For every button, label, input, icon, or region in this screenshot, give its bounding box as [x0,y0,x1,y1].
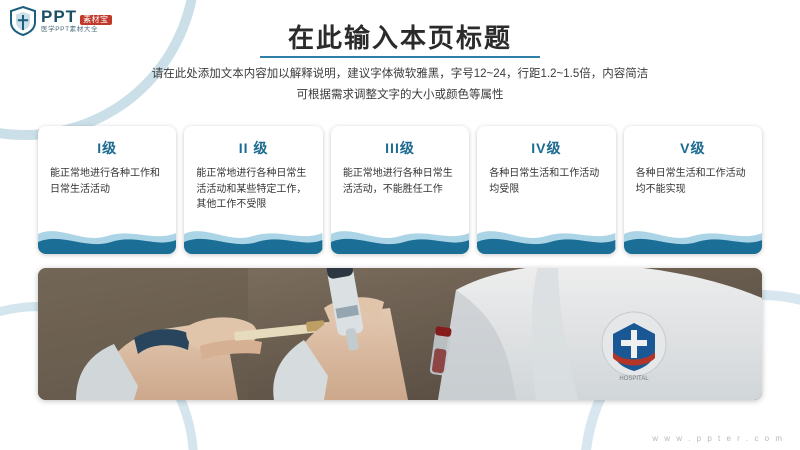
grade-card-title: III级 [331,138,469,158]
subtitle-line-2: 可根据需求调整文字的大小或颜色等属性 [0,85,800,106]
card-wave-decoration [331,220,469,254]
card-wave-decoration [184,220,322,254]
card-wave-decoration [477,220,615,254]
clinical-photo: HOSPITAL [38,268,762,400]
grade-card-title: V级 [624,138,762,158]
page-title: 在此输入本页标题 [0,18,800,55]
grade-card-body: 能正常地进行各种工作和日常生活活动 [38,158,176,197]
grade-card-title: II 级 [184,138,322,158]
grade-card-body: 各种日常生活和工作活动均不能实现 [624,158,762,197]
footer-website: w w w . p p t e r . c o m [652,434,784,443]
grade-card-3[interactable]: III级 能正常地进行各种日常生活活动，不能胜任工作 [331,126,469,254]
grade-card-5[interactable]: V级 各种日常生活和工作活动均不能实现 [624,126,762,254]
title-underline [260,56,540,58]
grade-card-body: 能正常地进行各种日常生活活动和某些特定工作，其他工作不受限 [184,158,322,213]
grade-card-title: I级 [38,138,176,158]
page-subtitle: 请在此处添加文本内容加以解释说明，建议字体微软雅黑，字号12~24，行距1.2~… [0,64,800,107]
slide: PPT 素材宝 医学PPT素材大全 在此输入本页标题 请在此处添加文本内容加以解… [0,0,800,450]
card-wave-decoration [624,220,762,254]
grade-card-body: 能正常地进行各种日常生活活动，不能胜任工作 [331,158,469,197]
subtitle-line-1: 请在此处添加文本内容加以解释说明，建议字体微软雅黑，字号12~24，行距1.2~… [0,64,800,85]
grade-card-1[interactable]: I级 能正常地进行各种工作和日常生活活动 [38,126,176,254]
grade-card-2[interactable]: II 级 能正常地进行各种日常生活活动和某些特定工作，其他工作不受限 [184,126,322,254]
grade-card-body: 各种日常生活和工作活动均受限 [477,158,615,197]
grade-card-4[interactable]: IV级 各种日常生活和工作活动均受限 [477,126,615,254]
card-wave-decoration [38,220,176,254]
grade-card-title: IV级 [477,138,615,158]
grade-card-list: I级 能正常地进行各种工作和日常生活活动 II 级 能正常地进行各种日常生活活动… [38,126,762,254]
